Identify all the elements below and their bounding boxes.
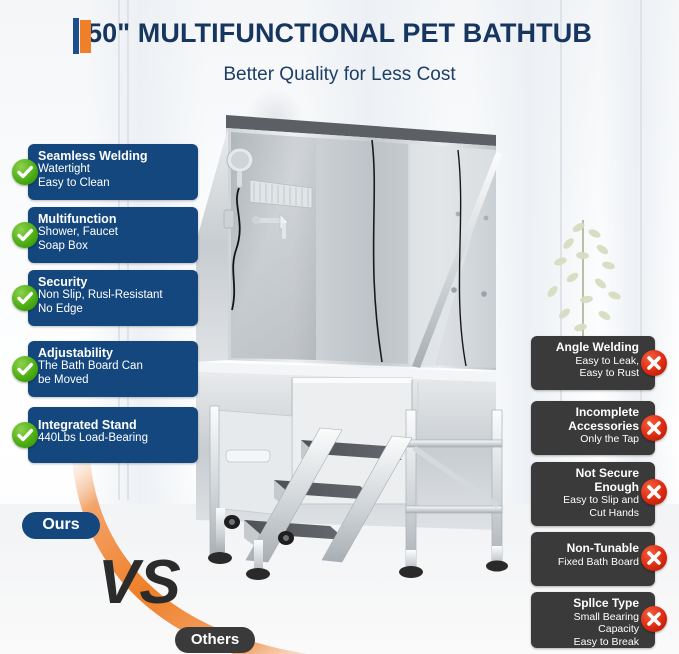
check-circle-icon [12, 422, 38, 448]
ours-feature-1[interactable]: Seamless Welding Watertight Easy to Clea… [28, 144, 198, 200]
others-feature-1[interactable]: Angle Welding Easy to Leak, Easy to Rust [531, 336, 655, 390]
check-circle-icon [12, 222, 38, 248]
ours-feature-2[interactable]: Multifunction Shower, Faucet Soap Box [28, 207, 198, 263]
others-feature-3[interactable]: Not Secure Enough Easy to Slip and Cut H… [531, 462, 655, 526]
ours-feature-5[interactable]: Integrated Stand 440Lbs Load-Bearing [28, 407, 198, 463]
page-title-text: 50" MULTIFUNCTIONAL PET BATHTUB [87, 18, 592, 48]
cross-circle-icon [641, 415, 667, 441]
ours-feature-3-sub1: Non Slip, Rusl-Resistant [38, 289, 192, 303]
ours-feature-2-head: Multifunction [38, 212, 192, 226]
others-feature-3-head: Not Secure [537, 467, 639, 481]
ours-feature-1-head: Seamless Welding [38, 149, 192, 163]
others-feature-4-head: Non-Tunable [537, 542, 639, 556]
cross-circle-icon [641, 606, 667, 632]
ours-feature-2-sub1: Shower, Faucet [38, 226, 192, 240]
others-feature-3-head2: Enough [537, 481, 639, 495]
tub-left-wall [196, 128, 228, 362]
accent-bar-blue [73, 18, 79, 54]
ours-pill: Ours [22, 512, 100, 539]
vs-label: VS [96, 549, 186, 615]
page-subtitle: Better Quality for Less Cost [0, 64, 679, 86]
cross-circle-icon [641, 545, 667, 571]
backsplash [226, 115, 502, 370]
cross-circle-icon [641, 350, 667, 376]
others-feature-3-sub2: Cut Hands [537, 507, 639, 520]
others-feature-5-head: Spllce Type [537, 597, 639, 611]
ours-feature-4-sub1: The Bath Board Can [38, 360, 192, 374]
others-feature-1-head: Angle Welding [537, 341, 639, 355]
ours-feature-5-sub1: 440Lbs Load-Bearing [38, 432, 192, 446]
check-circle-icon [12, 356, 38, 382]
others-feature-2-sub1: Only the Tap [537, 433, 639, 446]
others-feature-1-sub1: Easy to Leak, [537, 355, 639, 368]
others-feature-4-sub1: Fixed Bath Board [537, 556, 639, 569]
page-title: 50" MULTIFUNCTIONAL PET BATHTUB [87, 18, 592, 49]
others-feature-2[interactable]: Incomplete Accessories Only the Tap [531, 401, 655, 455]
accent-bar-orange [80, 20, 91, 53]
others-feature-5-sub1: Small Bearing Capacity [537, 611, 639, 636]
others-feature-3-sub1: Easy to Slip and [537, 494, 639, 507]
stainless-steel-pet-bathtub [196, 110, 536, 580]
ours-feature-5-head: Integrated Stand [38, 418, 192, 432]
check-circle-icon [12, 285, 38, 311]
ours-feature-4[interactable]: Adjustability The Bath Board Can be Move… [28, 341, 198, 397]
ours-feature-4-head: Adjustability [38, 346, 192, 360]
others-feature-4[interactable]: Non-Tunable Fixed Bath Board [531, 532, 655, 586]
ours-feature-2-sub2: Soap Box [38, 240, 192, 254]
ours-feature-1-sub1: Watertight [38, 163, 192, 177]
header: 50" MULTIFUNCTIONAL PET BATHTUB [0, 18, 679, 49]
ours-feature-4-sub2: be Moved [38, 374, 192, 388]
others-feature-5-sub2: Easy to Break [537, 636, 639, 649]
ours-feature-3[interactable]: Security Non Slip, Rusl-Resistant No Edg… [28, 270, 198, 326]
ours-feature-3-sub2: No Edge [38, 303, 192, 317]
others-pill: Others [175, 627, 255, 653]
check-circle-icon [12, 159, 38, 185]
others-feature-1-sub2: Easy to Rust [537, 367, 639, 380]
vs-label-text: VS [98, 549, 181, 615]
ours-feature-3-head: Security [38, 275, 192, 289]
others-feature-2-head2: Accessories [537, 420, 639, 434]
others-feature-2-head: Incomplete [537, 406, 639, 420]
infographic-canvas: 50" MULTIFUNCTIONAL PET BATHTUB Better Q… [0, 0, 679, 654]
ours-feature-1-sub2: Easy to Clean [38, 177, 192, 191]
others-feature-5[interactable]: Spllce Type Small Bearing Capacity Easy … [531, 592, 655, 648]
cross-circle-icon [641, 479, 667, 505]
control-box [224, 210, 234, 228]
